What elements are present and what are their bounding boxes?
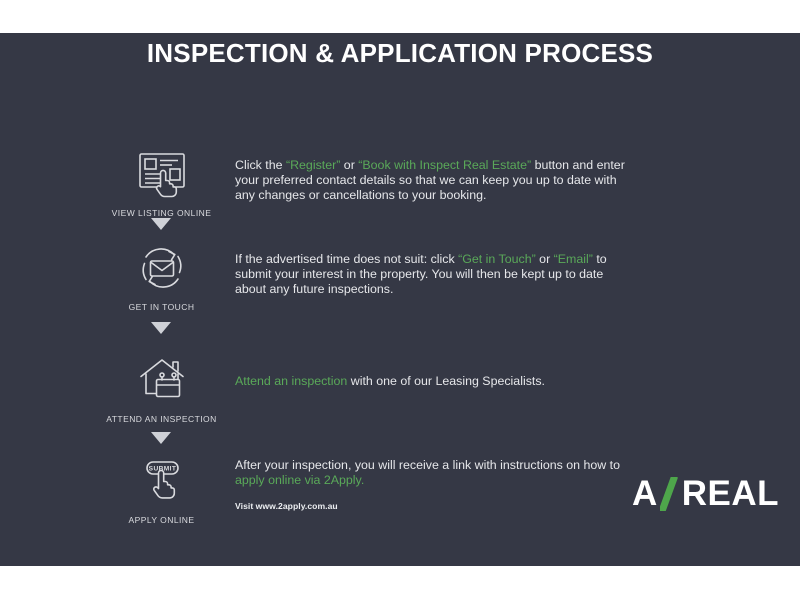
step-3-description: Attend an inspection with one of our Lea… bbox=[235, 374, 635, 389]
step-2-text-part-3: or bbox=[536, 252, 554, 266]
step-1-text-part-4: “Book with Inspect Real Estate” bbox=[358, 158, 531, 172]
step-4-icon-col: SUBMIT APPLY ONLINE bbox=[95, 453, 228, 525]
step-1-text-part-2: “Register” bbox=[286, 158, 340, 172]
logo-slash-icon bbox=[660, 477, 680, 511]
step-1-description: Click the “Register” or “Book with Inspe… bbox=[235, 158, 635, 204]
step-1-icon-col: VIEW LISTING ONLINE bbox=[95, 146, 228, 218]
step-4-text-part-1: After your inspection, you will receive … bbox=[235, 458, 620, 472]
connector-arrow-1 bbox=[151, 218, 172, 230]
brand-logo: A REAL bbox=[632, 474, 779, 514]
step-3-text-part-2: with one of our Leasing Specialists. bbox=[347, 374, 545, 388]
step-2-icon-col: GET IN TOUCH bbox=[95, 240, 228, 312]
step-4-label: APPLY ONLINE bbox=[95, 515, 228, 525]
step-4-text-part-2: apply online via 2Apply. bbox=[235, 473, 364, 487]
step-2-text-part-2: “Get in Touch” bbox=[458, 252, 536, 266]
connector-arrow-3 bbox=[151, 432, 172, 444]
step-1-text-part-3: or bbox=[340, 158, 358, 172]
step-2-description: If the advertised time does not suit: cl… bbox=[235, 252, 635, 298]
step-4-description: After your inspection, you will receive … bbox=[235, 458, 635, 515]
logo-text-right: REAL bbox=[682, 474, 779, 514]
page-title: INSPECTION & APPLICATION PROCESS bbox=[0, 38, 800, 69]
logo-text-left: A bbox=[632, 474, 658, 514]
step-1-text-part-1: Click the bbox=[235, 158, 286, 172]
step-2-label: GET IN TOUCH bbox=[95, 302, 228, 312]
step-2-text-part-1: If the advertised time does not suit: cl… bbox=[235, 252, 458, 266]
step-4-footnote: Visit www.2apply.com.au bbox=[235, 499, 635, 514]
envelope-refresh-icon bbox=[95, 240, 228, 296]
step-1-label: VIEW LISTING ONLINE bbox=[95, 208, 228, 218]
step-2-text-part-4: “Email” bbox=[554, 252, 593, 266]
step-3-icon-col: ATTEND AN INSPECTION bbox=[95, 352, 228, 424]
step-3-text-part-1: Attend an inspection bbox=[235, 374, 347, 388]
slide: INSPECTION & APPLICATION PROCESS VIEW LI… bbox=[0, 0, 800, 600]
listing-window-cursor-icon bbox=[95, 146, 228, 202]
step-3-label: ATTEND AN INSPECTION bbox=[95, 414, 228, 424]
submit-button-cursor-icon: SUBMIT bbox=[95, 453, 228, 509]
house-calendar-icon bbox=[95, 352, 228, 408]
connector-arrow-2 bbox=[151, 322, 172, 334]
